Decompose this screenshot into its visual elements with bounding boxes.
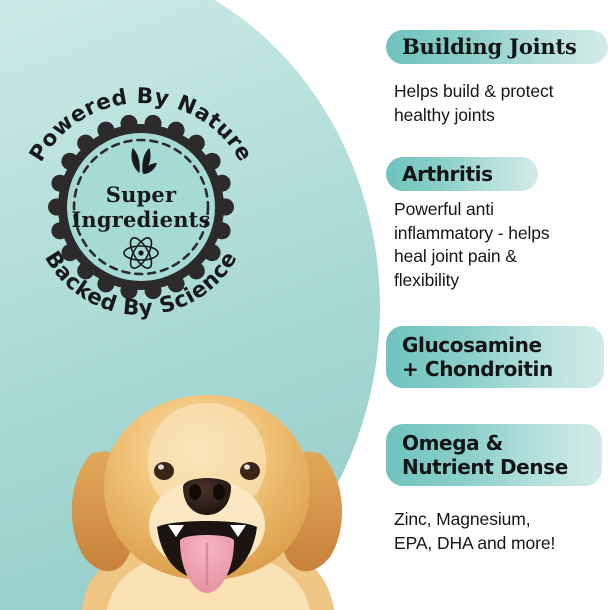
benefit-body-building-joints: Helps build & protect healthy joints: [394, 80, 610, 127]
benefit-heading-glucosamine-chondroitin: Glucosamine + Chondroitin: [386, 326, 604, 388]
badge-inner-fill: [67, 133, 215, 281]
benefit-heading-label: Omega & Nutrient Dense: [402, 431, 568, 479]
super-ingredients-badge: Powered By Nature Backed By Science Supe…: [22, 88, 260, 326]
promo-graphic: Powered By Nature Backed By Science Supe…: [0, 0, 610, 610]
benefit-heading-label: Glucosamine + Chondroitin: [402, 333, 553, 381]
benefits-column: Building Joints Helps build & protect he…: [386, 0, 610, 610]
benefit-body-omega-nutrient-dense: Zinc, Magnesium, EPA, DHA and more!: [394, 508, 610, 555]
benefit-heading-omega-nutrient-dense: Omega & Nutrient Dense: [386, 424, 602, 486]
benefit-body-arthritis: Powerful anti inflammatory - helps heal …: [394, 198, 610, 292]
benefit-heading-label: Building Joints: [402, 35, 577, 59]
benefit-heading-arthritis: Arthritis: [386, 157, 538, 191]
dog-photo: [52, 375, 362, 610]
benefit-heading-label: Arthritis: [402, 162, 493, 186]
benefit-heading-building-joints: Building Joints: [386, 30, 608, 64]
